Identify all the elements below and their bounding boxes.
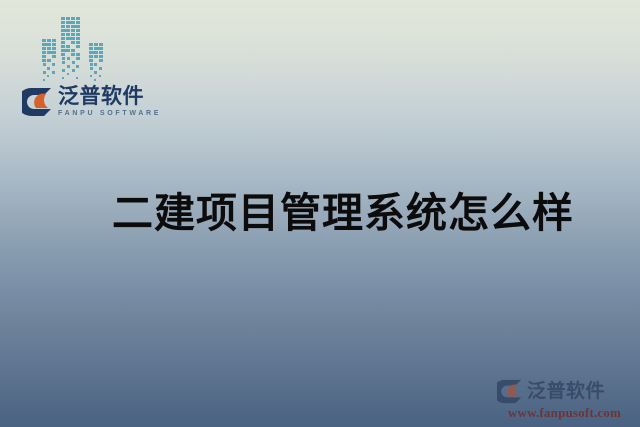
watermark: 泛普软件 www.fanpusoft.com	[497, 379, 632, 421]
fanpu-logo-mark-icon	[22, 87, 53, 117]
page-title: 二建项目管理系统怎么样	[112, 190, 574, 237]
slide-canvas: 泛普软件 FANPU SOFTWARE 二建项目管理系统怎么样 泛普软件 www…	[0, 0, 640, 427]
watermark-logo: 泛普软件	[497, 379, 632, 404]
fanpu-logo-mark-icon	[497, 379, 523, 404]
brand-name-cn: 泛普软件	[58, 86, 161, 107]
pixel-city-skyline-icon	[33, 13, 113, 85]
watermark-url: www.fanpusoft.com	[497, 405, 632, 421]
brand-wordmark: 泛普软件 FANPU SOFTWARE	[58, 86, 161, 117]
brand-name-en: FANPU SOFTWARE	[58, 110, 161, 117]
watermark-brand-name: 泛普软件	[527, 382, 605, 401]
brand-logo: 泛普软件 FANPU SOFTWARE	[22, 86, 161, 117]
